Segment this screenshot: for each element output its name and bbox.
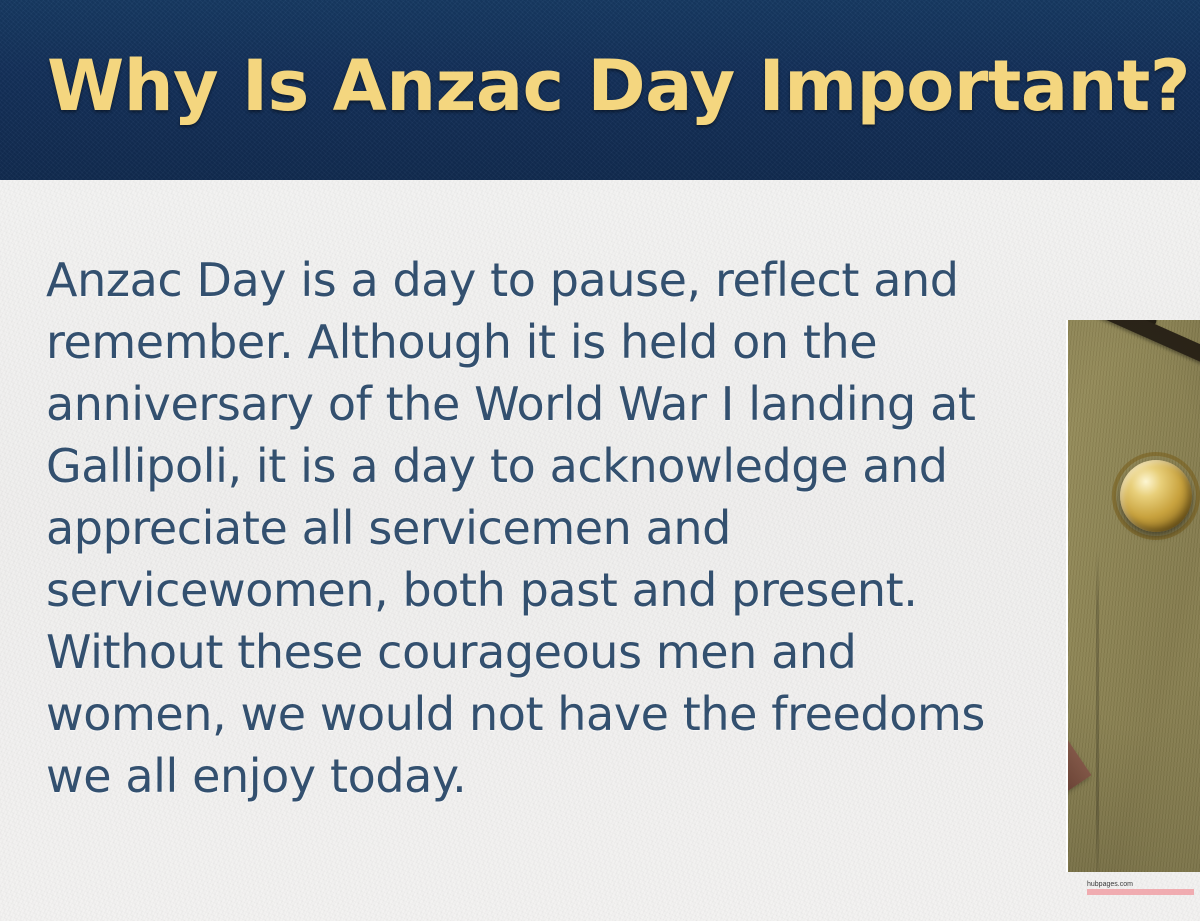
uniform-photo: [1066, 320, 1200, 872]
page-title: Why Is Anzac Day Important?: [47, 44, 1190, 128]
uniform-photo-fabric: [1066, 320, 1200, 872]
photo-vignette: [1066, 320, 1200, 872]
header-divider: [0, 180, 1200, 184]
image-credit-text[interactable]: hubpages.com: [1087, 880, 1197, 889]
slide-canvas: Why Is Anzac Day Important? Anzac Day is…: [0, 0, 1200, 921]
body-paragraph: Anzac Day is a day to pause, reflect and…: [46, 249, 1006, 807]
image-credit-highlight: [1087, 889, 1194, 895]
